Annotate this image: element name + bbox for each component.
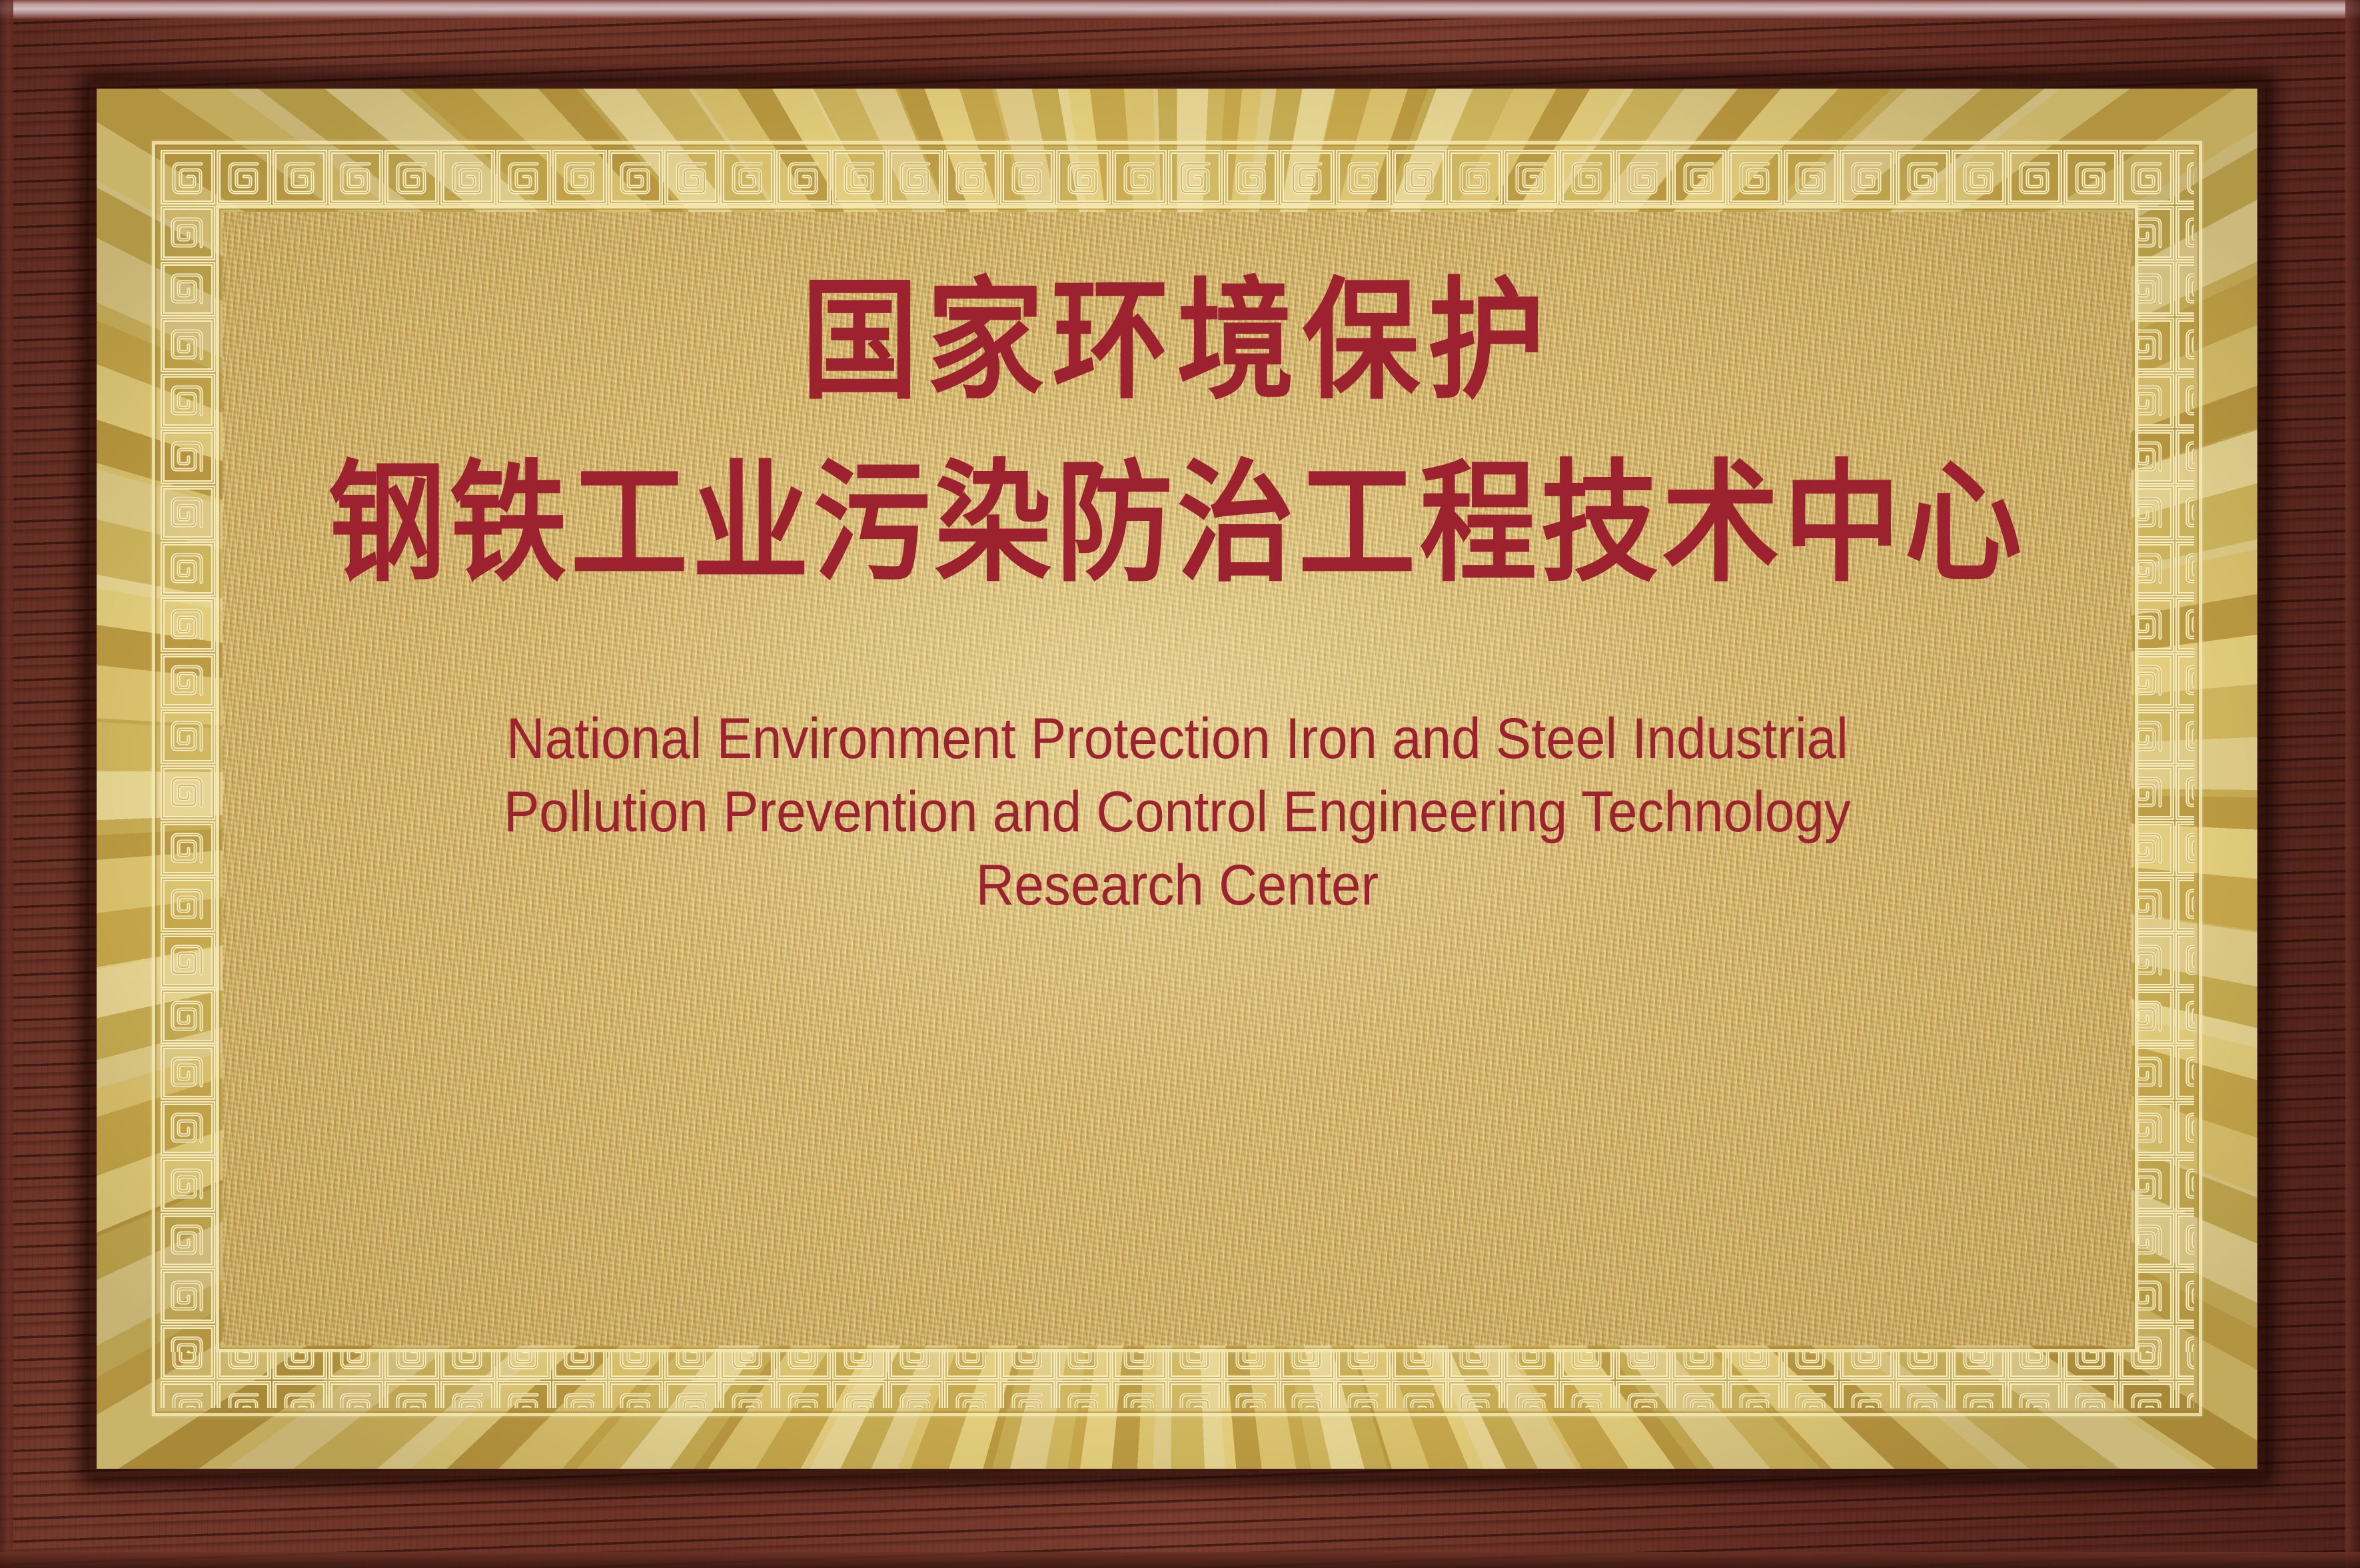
chinese-title-line-1: 国家环境保护	[801, 276, 1552, 407]
chinese-title-line-2: 钢铁工业污染防治工程技术中心	[328, 458, 2026, 589]
frame-bevel-left	[0, 0, 13, 1568]
english-title-line-3: Research Center	[504, 849, 1851, 922]
english-title-line-1: National Environment Protection Iron and…	[504, 702, 1851, 775]
frame-bevel-bottom	[0, 1552, 2360, 1568]
gold-plate: 国家环境保护 钢铁工业污染防治工程技术中心 National Environme…	[97, 89, 2257, 1469]
award-plaque: 国家环境保护 钢铁工业污染防治工程技术中心 National Environme…	[0, 0, 2360, 1568]
inscription-content: 国家环境保护 钢铁工业污染防治工程技术中心 National Environme…	[223, 212, 2131, 1346]
english-title-line-2: Pollution Prevention and Control Enginee…	[504, 775, 1851, 849]
english-title-block: National Environment Protection Iron and…	[504, 702, 1851, 922]
inscription-field: 国家环境保护 钢铁工业污染防治工程技术中心 National Environme…	[223, 212, 2131, 1346]
frame-bevel-top-highlight	[0, 0, 2360, 19]
frame-bevel-right	[2345, 0, 2360, 1568]
